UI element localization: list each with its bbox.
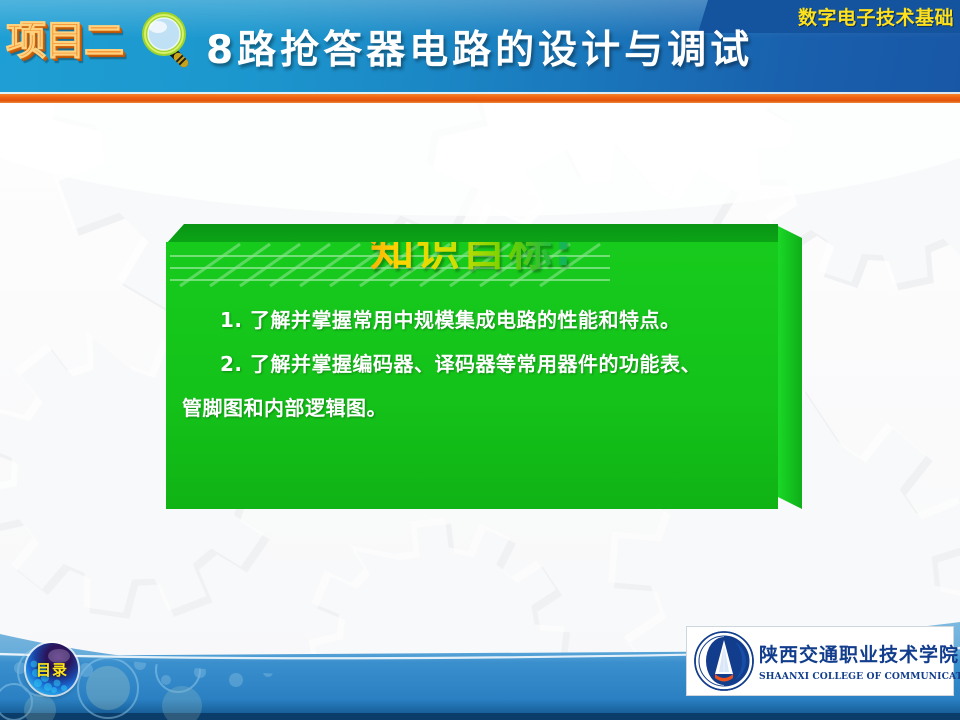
school-logo-text: 陕西交通职业技术学院 SHAANXI COLLEGE OF COMMUNICAT… [755,640,960,682]
goal-list: 1. 了解并掌握常用中规模集成电路的性能和特点。 2. 了解并掌握编码器、译码器… [166,298,778,430]
school-logo: 陕西交通职业技术学院 SHAANXI COLLEGE OF COMMUNICAT… [686,626,954,696]
header-divider-orange [0,94,960,103]
table-of-contents-button[interactable]: 目录 [26,643,78,695]
school-name-cn: 陕西交通职业技术学院 [759,640,960,667]
box-right-extrusion [774,224,802,509]
project-badge: 项目二 [6,4,156,80]
school-name-en: SHAANXI COLLEGE OF COMMUNICATION TECHNOL… [759,671,960,682]
knowledge-goals-box: 知识目标: 1. 了解并掌握常用中规模集成电路的性能和特点。 2. 了解并掌握编… [166,224,802,509]
box-top-bevel [166,224,778,244]
goal-item: 2. 了解并掌握编码器、译码器等常用器件的功能表、 [182,342,764,386]
box-face: 知识目标: 1. 了解并掌握常用中规模集成电路的性能和特点。 2. 了解并掌握编… [166,242,778,509]
slide-header: 数字电子技术基础 项目二 8路抢答器电路的设计与调试 [0,0,960,94]
magnifier-icon [124,10,194,80]
slide-footer: 目录 陕西交通职业技术学院 SHAANXI COLLEGE OF COMMUNI… [0,610,960,720]
goal-item: 1. 了解并掌握常用中规模集成电路的性能和特点。 [182,298,764,342]
slide-root: 数字电子技术基础 项目二 8路抢答器电路的设计与调试 [0,0,960,720]
goal-heading: 知识目标: [166,214,778,278]
page-title: 8路抢答器电路的设计与调试 [206,19,906,75]
goal-item-continuation: 管脚图和内部逻辑图。 [182,386,764,430]
project-badge-label: 项目二 [6,8,123,66]
toc-button-label: 目录 [36,659,68,680]
school-emblem-icon [693,630,755,692]
